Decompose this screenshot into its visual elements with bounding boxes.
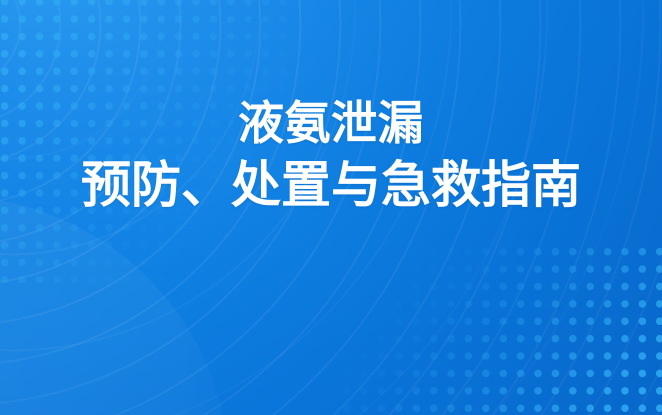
title-line-primary: 液氨泄漏 xyxy=(238,96,424,150)
title-line-secondary: 预防、处置与急救指南 xyxy=(81,156,581,215)
title-block: 液氨泄漏 预防、处置与急救指南 xyxy=(0,96,662,215)
title-slide: 液氨泄漏 预防、处置与急救指南 xyxy=(0,0,662,415)
halftone-dots-bottom-right xyxy=(338,243,662,415)
